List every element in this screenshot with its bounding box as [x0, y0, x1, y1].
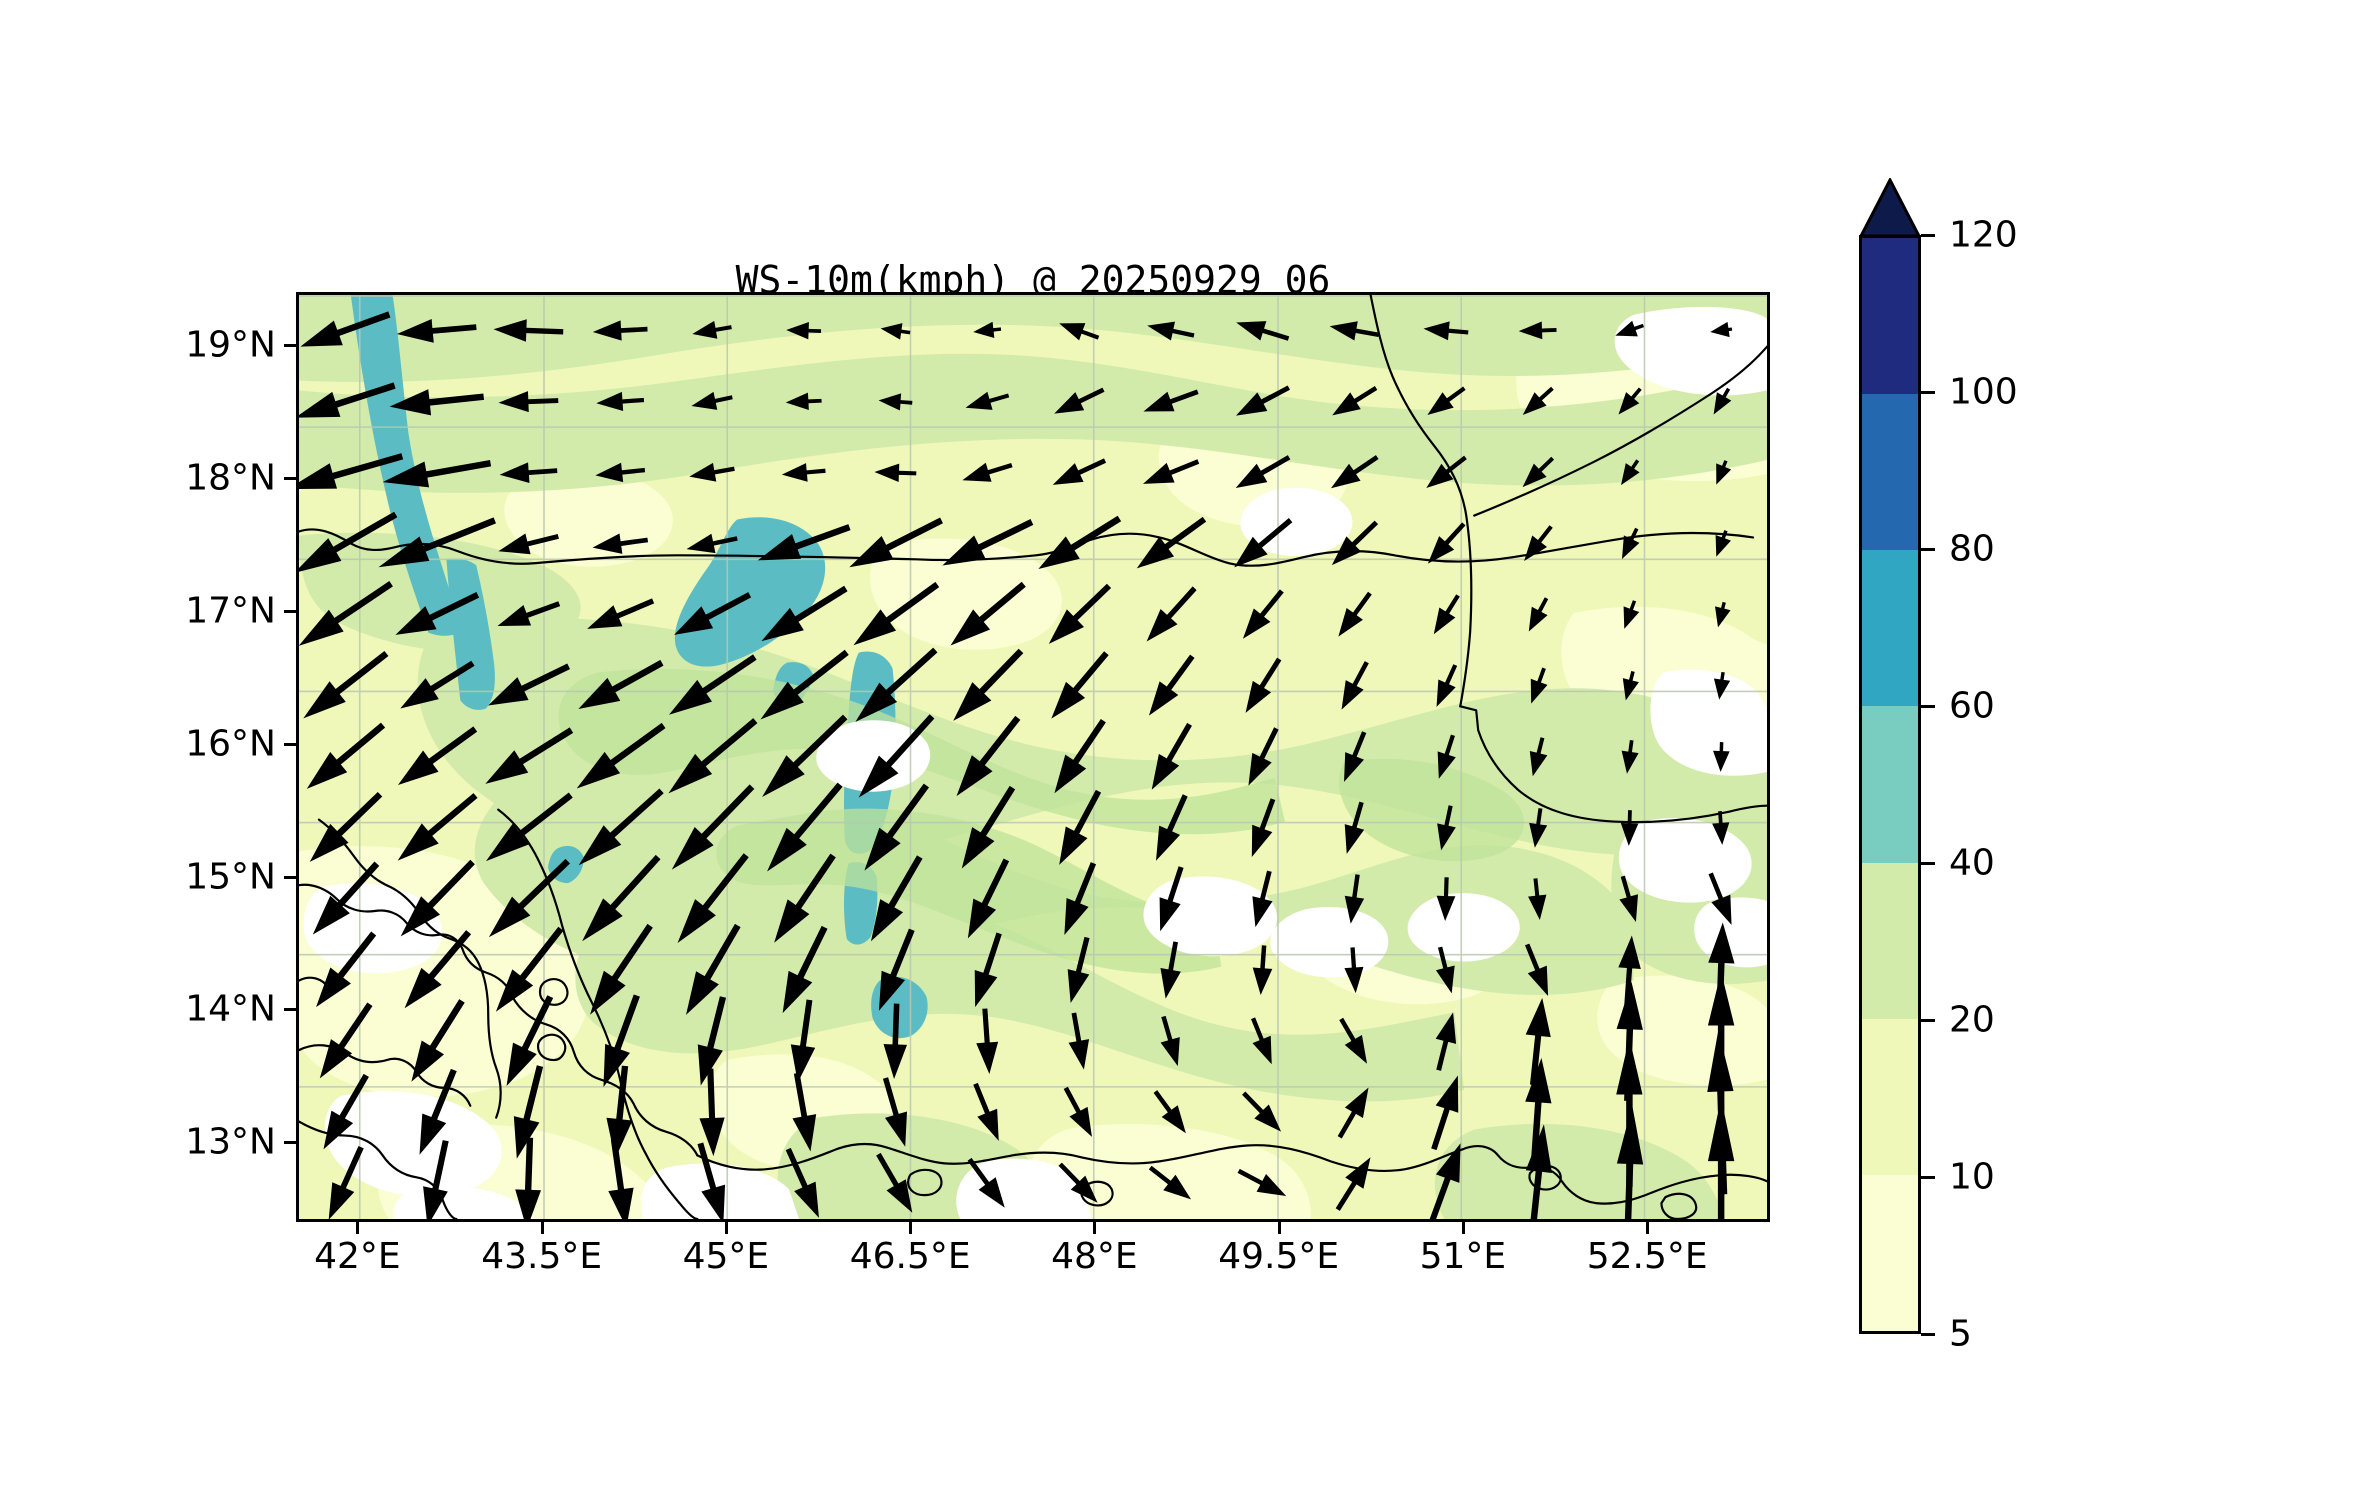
colorbar-tick-label: 40 [1949, 843, 1995, 884]
figure-canvas: WS-10m(kmph) @ 20250929_06 Simulation Ti… [0, 0, 2371, 1500]
map-axes[interactable] [296, 292, 1770, 1222]
y-tick-mark [284, 1141, 296, 1144]
colorbar-gradient[interactable] [1859, 235, 1921, 1334]
colorbar-tick-label: 120 [1949, 215, 2018, 256]
colorbar-tick-mark [1921, 705, 1935, 708]
x-tick-mark [909, 1222, 912, 1234]
colorbar-segment [1862, 394, 1918, 550]
colorbar-tick-label: 100 [1949, 372, 2018, 413]
x-tick-mark [1646, 1222, 1649, 1234]
colorbar-extend-arrow [1859, 178, 1921, 238]
x-tick-label: 46.5°E [850, 1236, 971, 1277]
x-tick-label: 51°E [1420, 1236, 1507, 1277]
colorbar-tick-mark [1921, 234, 1935, 237]
colorbar-segment [1862, 706, 1918, 862]
colorbar-tick-mark [1921, 1019, 1935, 1022]
colorbar-tick-label: 20 [1949, 1000, 1995, 1041]
colorbar-tick-label: 10 [1949, 1157, 1995, 1198]
x-tick-mark [1278, 1222, 1281, 1234]
colorbar[interactable]: 51020406080100120 [1859, 178, 2259, 1338]
colorbar-segment [1862, 1019, 1918, 1175]
y-tick-mark [284, 743, 296, 746]
x-tick-mark [725, 1222, 728, 1234]
y-tick-mark [284, 876, 296, 879]
y-tick-label: 16°N [185, 723, 276, 764]
y-tick-label: 15°N [185, 856, 276, 897]
map-plot-area [299, 295, 1767, 1219]
y-tick-mark [284, 344, 296, 347]
x-tick-label: 52.5°E [1587, 1236, 1708, 1277]
y-tick-label: 13°N [185, 1122, 276, 1163]
x-tick-label: 43.5°E [481, 1236, 602, 1277]
colorbar-tick-mark [1921, 1333, 1935, 1336]
colorbar-tick-mark [1921, 548, 1935, 551]
colorbar-tick-mark [1921, 1176, 1935, 1179]
colorbar-tick-mark [1921, 391, 1935, 394]
y-tick-label: 14°N [185, 989, 276, 1030]
x-tick-label: 48°E [1051, 1236, 1138, 1277]
y-tick-label: 19°N [185, 325, 276, 366]
wind-speed-field [299, 295, 1767, 1219]
x-tick-mark [1093, 1222, 1096, 1234]
contour-fill-group [299, 295, 1767, 1219]
colorbar-tick-label: 80 [1949, 529, 1995, 570]
x-tick-label: 49.5°E [1218, 1236, 1339, 1277]
colorbar-segment [1862, 863, 1918, 1019]
colorbar-tick-label: 60 [1949, 686, 1995, 727]
colorbar-segment [1862, 238, 1918, 394]
y-tick-mark [284, 477, 296, 480]
y-tick-mark [284, 610, 296, 613]
x-tick-mark [356, 1222, 359, 1234]
x-tick-label: 42°E [314, 1236, 401, 1277]
colorbar-tick-label: 5 [1949, 1314, 1972, 1355]
y-tick-label: 18°N [185, 458, 276, 499]
colorbar-tick-mark [1921, 862, 1935, 865]
y-tick-label: 17°N [185, 590, 276, 631]
y-tick-mark [284, 1008, 296, 1011]
x-tick-label: 45°E [683, 1236, 770, 1277]
x-tick-mark [1462, 1222, 1465, 1234]
x-tick-mark [541, 1222, 544, 1234]
colorbar-segment [1862, 550, 1918, 706]
colorbar-segment [1862, 1175, 1918, 1331]
